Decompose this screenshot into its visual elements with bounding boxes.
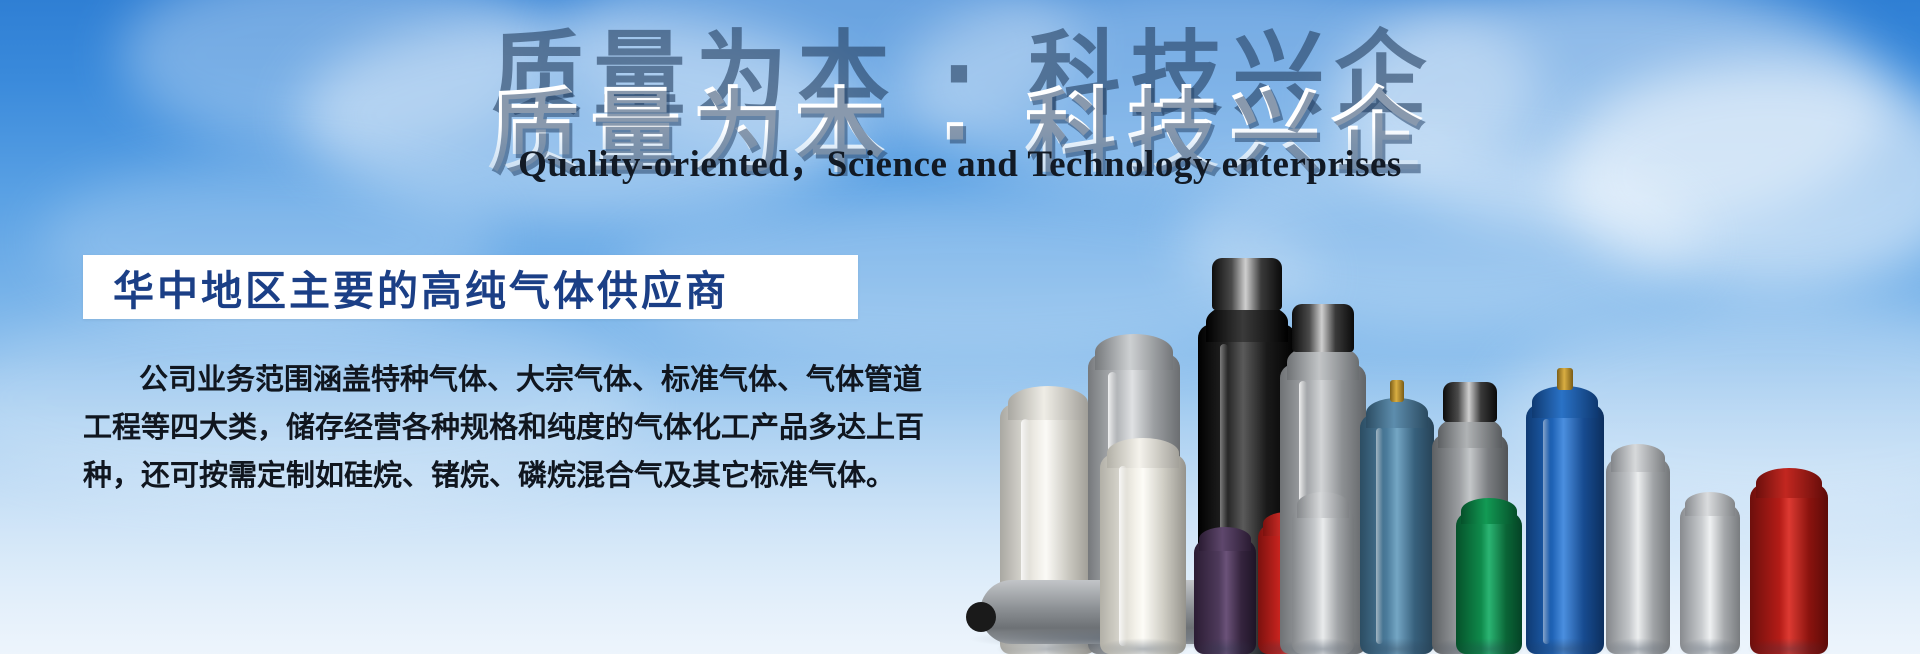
gas-company-hero-banner: 质量为本 · 科技兴企 质量为本 · 科技兴企 Quality-oriented… xyxy=(0,0,1920,654)
green-small-cylinder xyxy=(1456,512,1522,654)
aluminium-cylinder xyxy=(1680,504,1740,654)
aluminium-cylinder xyxy=(1606,458,1670,654)
ivory-cylinder xyxy=(1100,454,1186,654)
banner-subtitle-english: Quality-oriented，Science and Technology … xyxy=(0,133,1920,187)
highlight-strip-text: 华中地区主要的高纯气体供应商 xyxy=(83,257,729,317)
gas-cylinder-group xyxy=(980,234,1920,654)
paragraph-line-2: 工程等四大类，储存经营各种规格和纯度的气体化工产品多达上百 xyxy=(83,403,873,451)
purple-small-cylinder xyxy=(1194,539,1256,654)
paragraph-line-1: 公司业务范围涵盖特种气体、大宗气体、标准气体、气体管道 xyxy=(83,355,873,403)
blue-cylinder xyxy=(1526,404,1604,654)
dark-red-cylinder xyxy=(1750,484,1828,654)
teal-valve-cylinder xyxy=(1360,414,1434,654)
highlight-strip: 华中地区主要的高纯气体供应商 xyxy=(83,255,858,319)
aluminium-cylinder xyxy=(1292,506,1354,654)
paragraph-line-3: 种，还可按需定制如硅烷、锗烷、磷烷混合气及其它标准气体。 xyxy=(83,451,873,499)
banner-paragraph: 公司业务范围涵盖特种气体、大宗气体、标准气体、气体管道 工程等四大类，储存经营各… xyxy=(83,355,873,499)
